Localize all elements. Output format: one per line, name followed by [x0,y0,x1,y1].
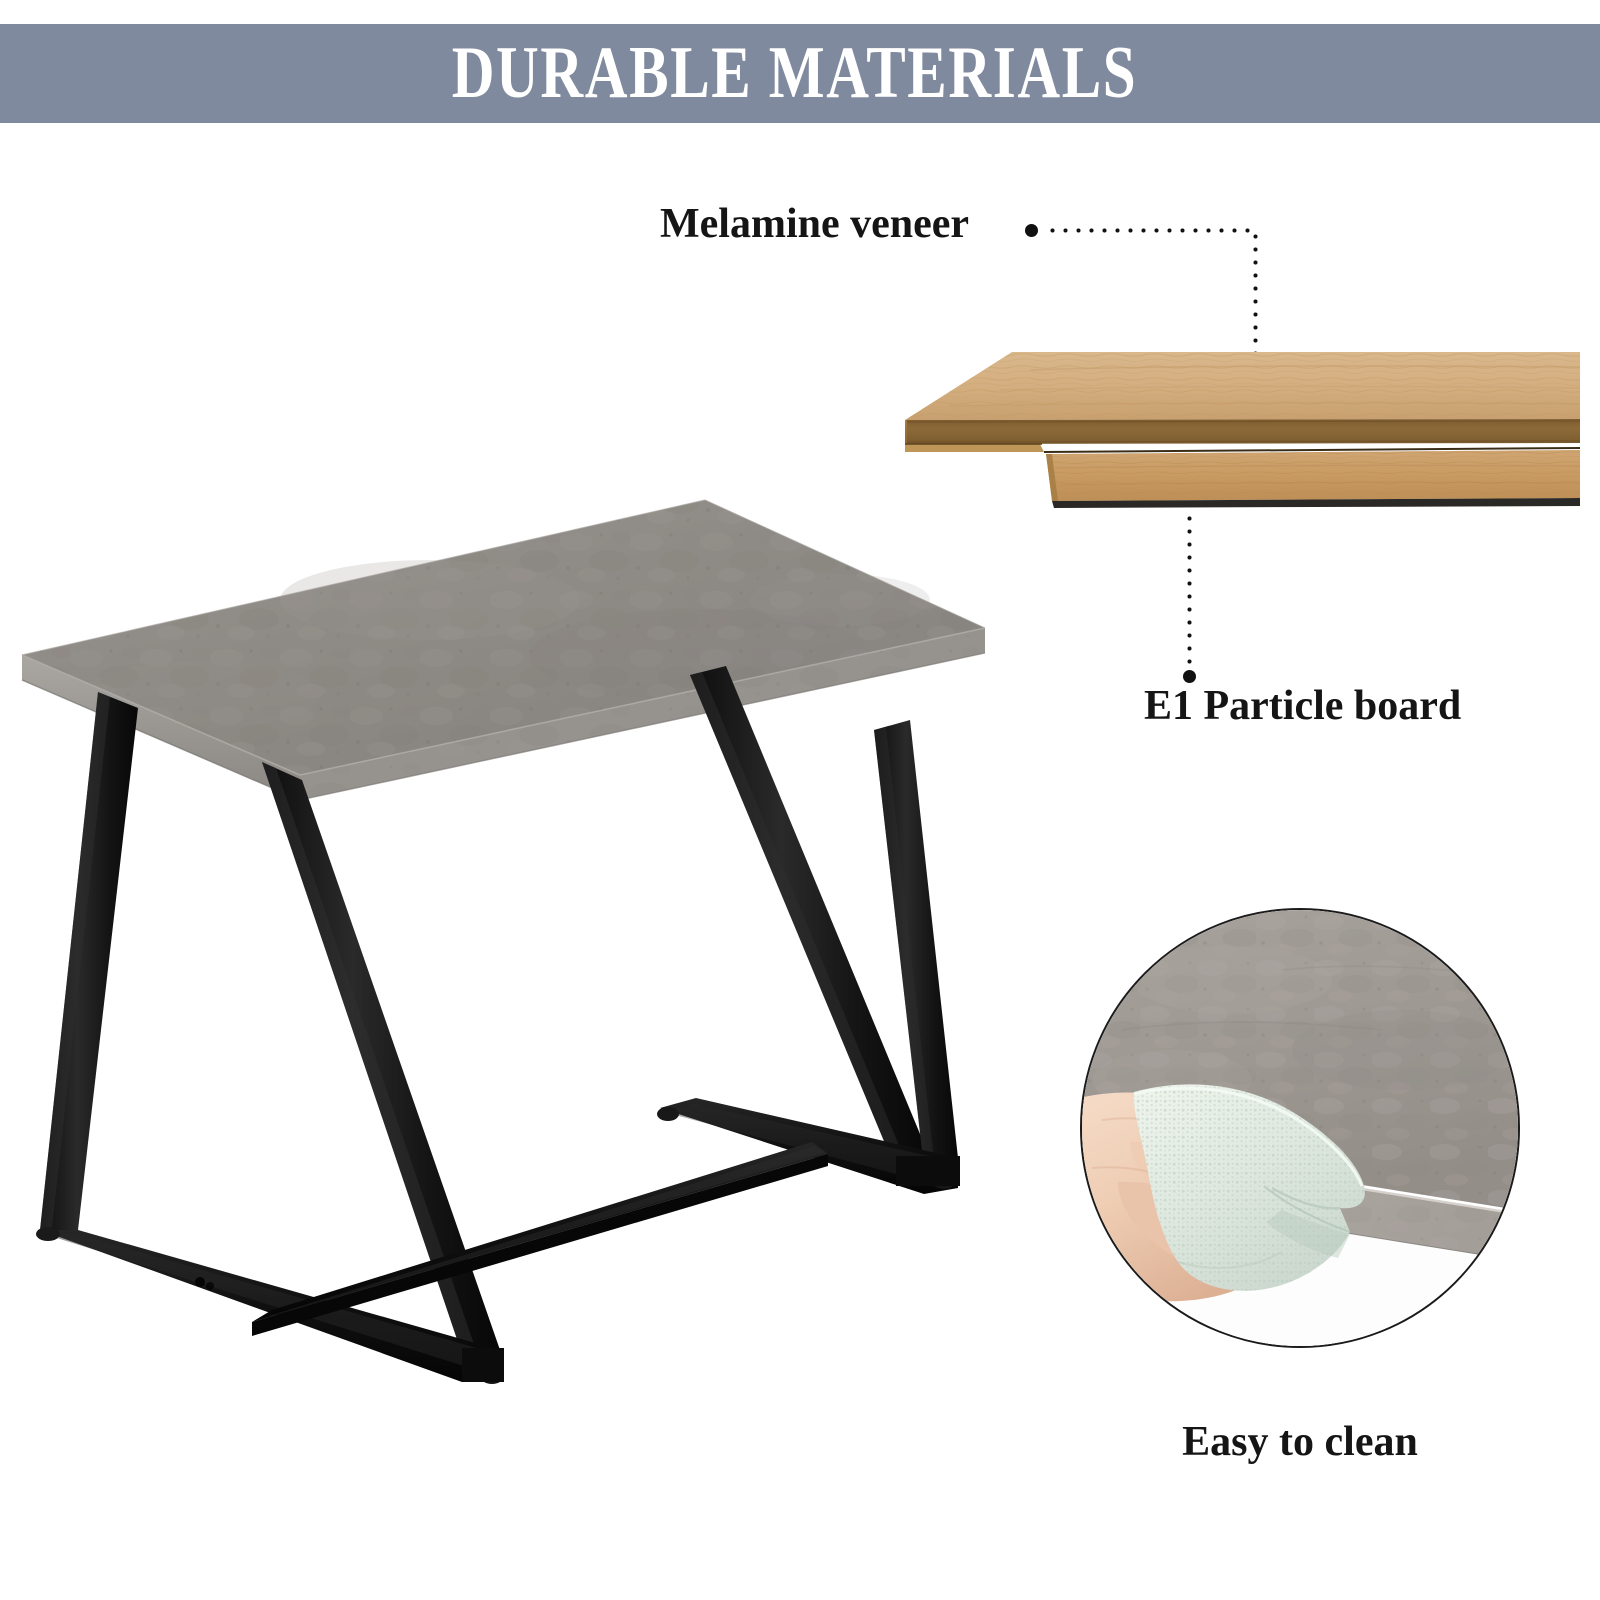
callout-label-e1-particle-board: E1 Particle board [1144,682,1461,730]
page-title: DURABLE MATERIALS [0,27,1595,120]
product-photo-desk [0,470,1010,1430]
inset-photo-easy-to-clean [1080,908,1520,1348]
page-title-text: DURABLE MATERIALS [452,27,1138,120]
leader-line-melamine-vertical [1253,230,1258,352]
bullet-dot-icon-melamine [1025,224,1038,237]
leader-line-melamine-horizontal [1046,228,1258,233]
inset-caption-easy-to-clean: Easy to clean [1080,1418,1520,1466]
leader-line-particle-board-vertical [1187,512,1192,672]
callout-label-melamine-veneer: Melamine veneer [660,200,969,248]
